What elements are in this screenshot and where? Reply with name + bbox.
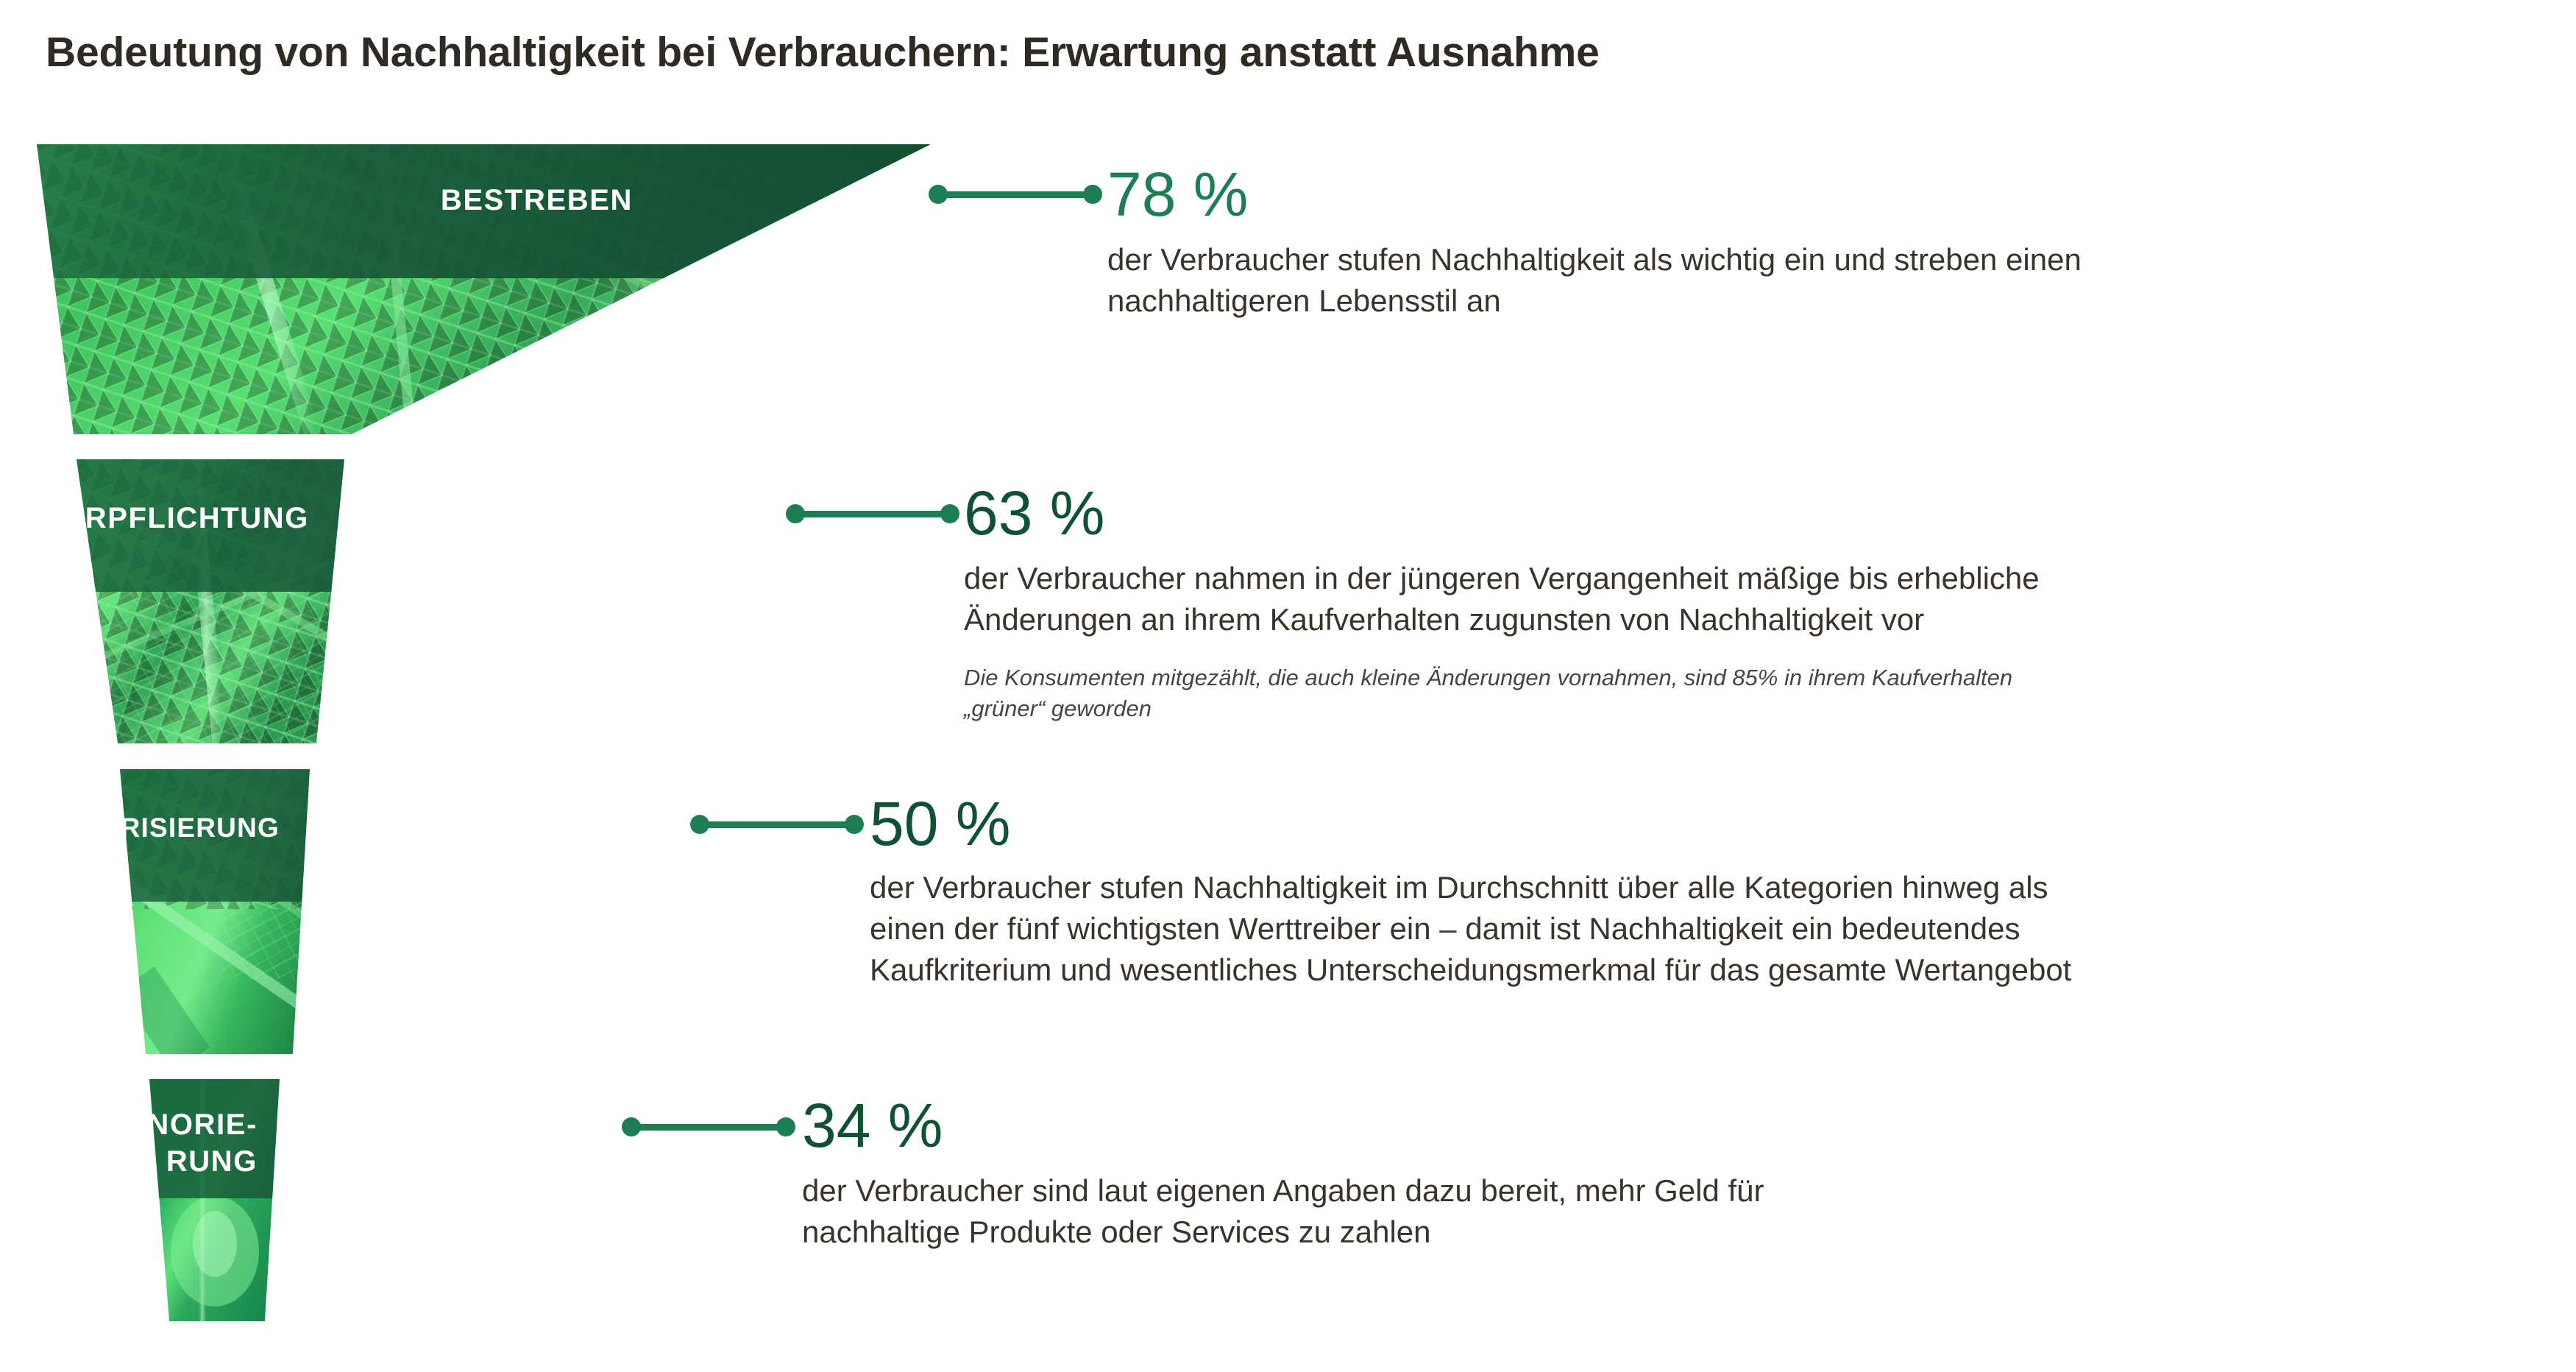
connector-dot-right	[1083, 185, 1102, 204]
stat-desc-line: der Verbraucher stufen Nachhaltigkeit al…	[1107, 239, 2535, 280]
stat-value-34: 34 %	[802, 1095, 943, 1156]
funnel-segment-bestreben	[0, 137, 1030, 446]
connector-line-priorisierung	[690, 815, 864, 834]
connector-line-honorierung	[622, 1117, 795, 1136]
stat-desc-line: der Verbraucher nahmen in der jüngeren V…	[964, 558, 2487, 599]
connector-bar	[631, 1124, 786, 1131]
funnel-segment-verpflichtung	[0, 452, 1030, 754]
connector-dot-right	[940, 504, 959, 523]
funnel-label-priorisierung: PRIORISIERUNG	[29, 813, 280, 843]
stat-value-63: 63 %	[964, 482, 1104, 544]
stat-value-50: 50 %	[870, 793, 1010, 855]
connector-dot-right	[845, 815, 864, 834]
funnel-label-bestreben: BESTREBEN	[177, 184, 633, 217]
stat-desc-line: der Verbraucher sind laut eigenen Angabe…	[802, 1170, 2200, 1212]
connector-dot-right	[776, 1117, 795, 1136]
stat-desc-line: Kaufkriterium und wesentliches Untersche…	[870, 950, 2525, 991]
stat-value-78: 78 %	[1107, 163, 1248, 225]
stat-desc-line: der Verbraucher stufen Nachhaltigkeit im…	[870, 867, 2525, 908]
stat-desc-line: einen der fünf wichtigsten Werttreiber e…	[870, 908, 2525, 950]
connector-line-bestreben	[929, 185, 1102, 204]
stat-desc-line: nachhaltigeren Lebensstil an	[1107, 280, 2535, 322]
funnel-label-honorierung-line1: HONORIE-	[44, 1108, 258, 1142]
connector-bar	[700, 821, 854, 828]
stat-desc-line: nachhaltige Produkte oder Services zu za…	[802, 1212, 2200, 1253]
stat-note-line: „grüner“ geworden	[964, 693, 2487, 724]
connector-bar	[795, 511, 950, 517]
funnel-label-verpflichtung: VERPFLICHTUNG	[29, 502, 309, 535]
funnel-label-honorierung-line2: RUNG	[44, 1145, 258, 1178]
connector-bar	[938, 191, 1093, 198]
connector-line-verpflichtung	[786, 504, 959, 523]
stat-note-line: Die Konsumenten mitgezählt, die auch kle…	[964, 662, 2487, 693]
stat-desc-line: Änderungen an ihrem Kaufverhalten zuguns…	[964, 599, 2487, 640]
